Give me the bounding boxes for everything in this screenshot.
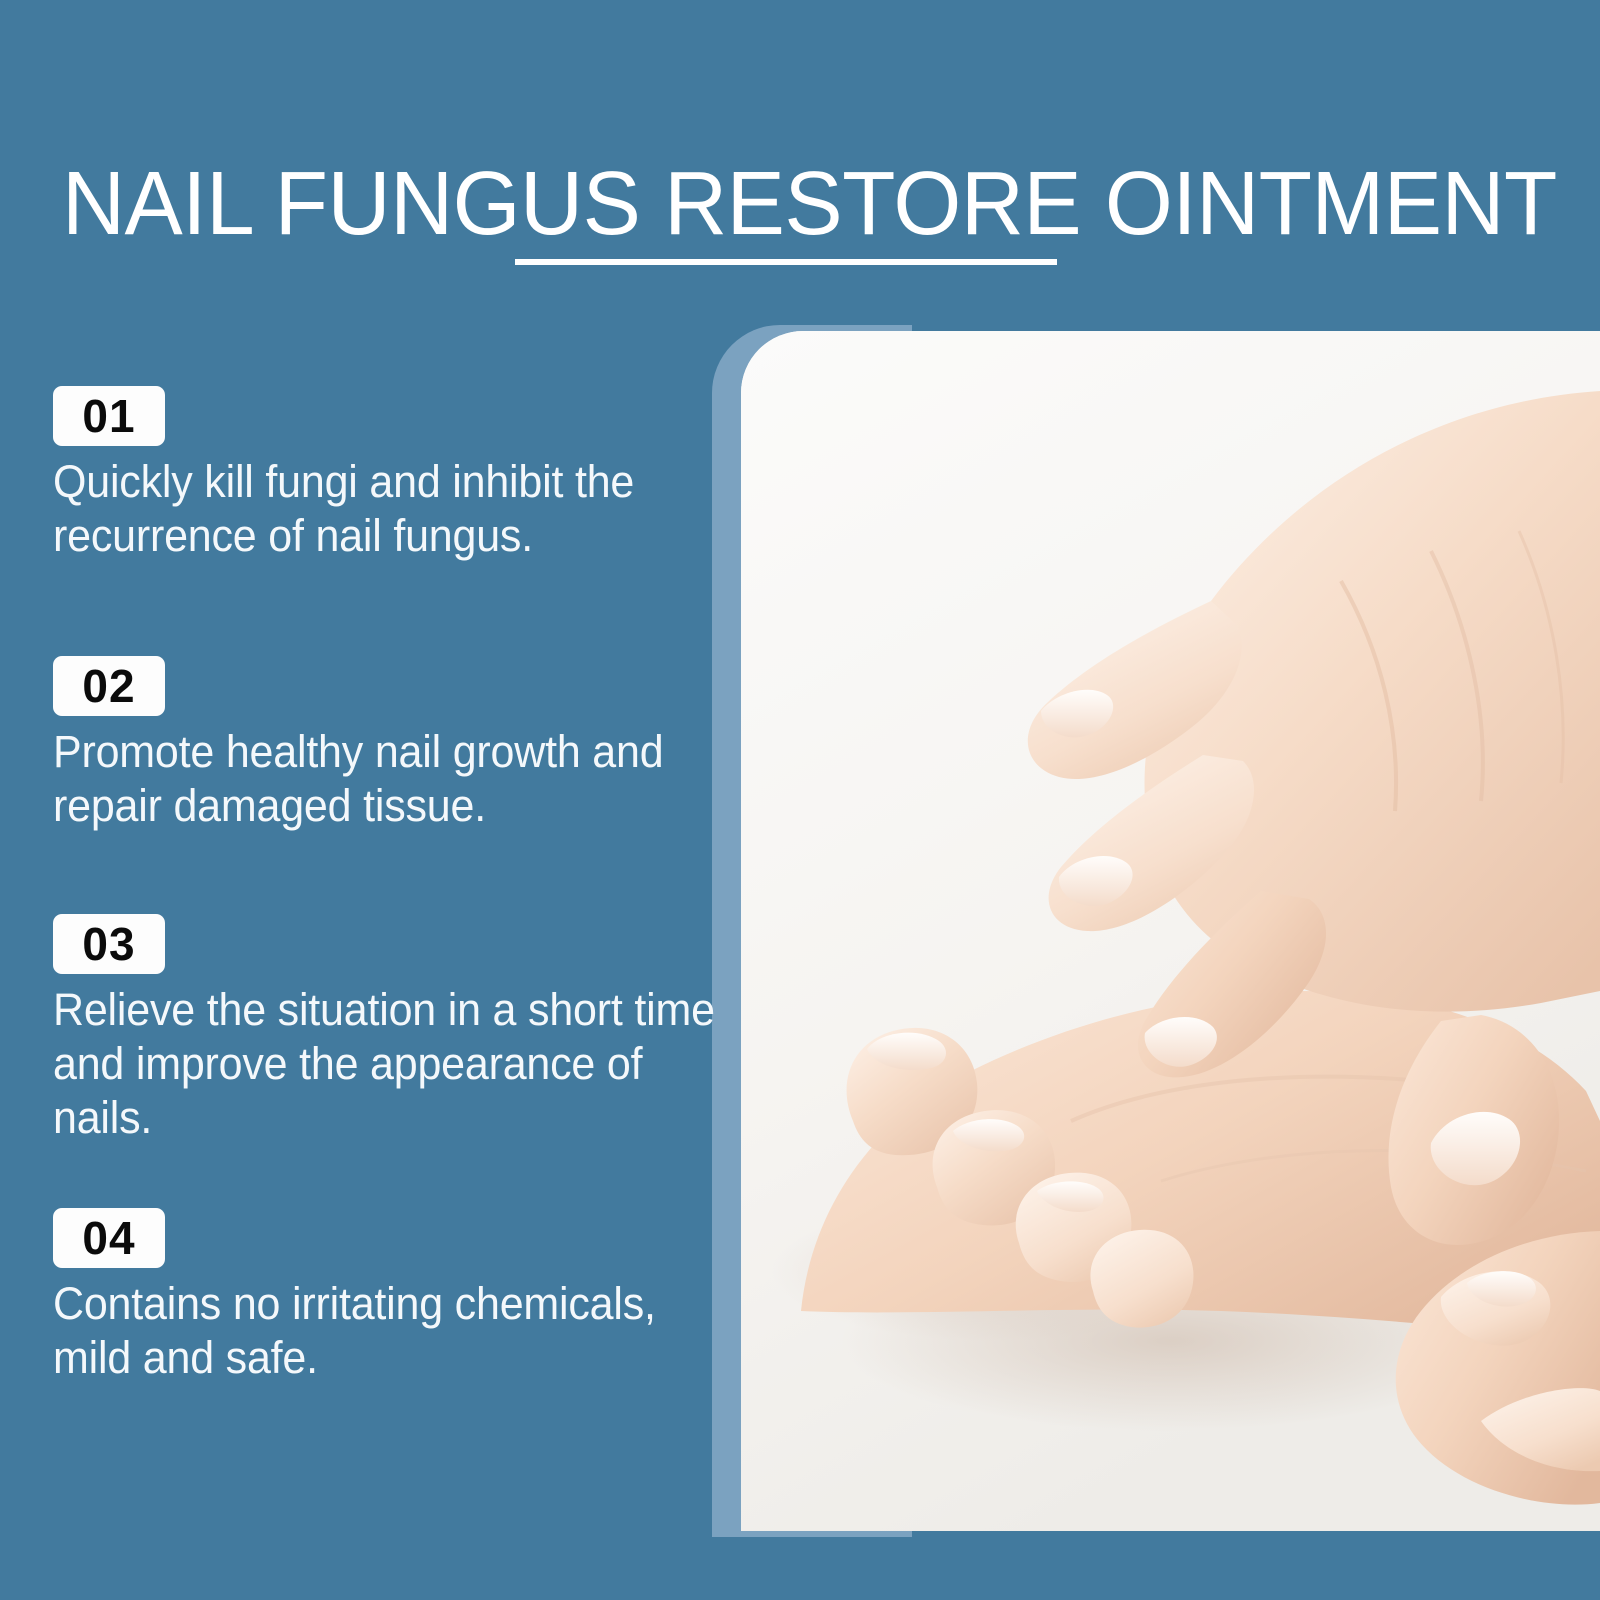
- feature-description: Promote healthy nail growth and repair d…: [53, 725, 722, 833]
- page-title: NAIL FUNGUS RESTORE OINTMENT: [62, 156, 1507, 252]
- feature-number-badge: 02: [53, 656, 165, 716]
- product-infographic: NAIL FUNGUS RESTORE OINTMENT: [0, 0, 1600, 1600]
- feature-description: Relieve the situation in a short time an…: [53, 983, 722, 1145]
- feature-description: Contains no irritating chemicals, mild a…: [53, 1277, 722, 1385]
- feature-description: Quickly kill fungi and inhibit the recur…: [53, 455, 722, 563]
- feature-item-04: 04 Contains no irritating chemicals, mil…: [53, 1208, 753, 1385]
- hands-foot-photo-icon: [741, 331, 1600, 1531]
- title-divider: [515, 259, 1057, 265]
- feature-item-01: 01 Quickly kill fungi and inhibit the re…: [53, 386, 753, 563]
- feature-number-badge: 01: [53, 386, 165, 446]
- feature-item-03: 03 Relieve the situation in a short time…: [53, 914, 753, 1145]
- feature-number-badge: 03: [53, 914, 165, 974]
- product-photo: [741, 331, 1600, 1531]
- feature-item-02: 02 Promote healthy nail growth and repai…: [53, 656, 753, 833]
- feature-number-badge: 04: [53, 1208, 165, 1268]
